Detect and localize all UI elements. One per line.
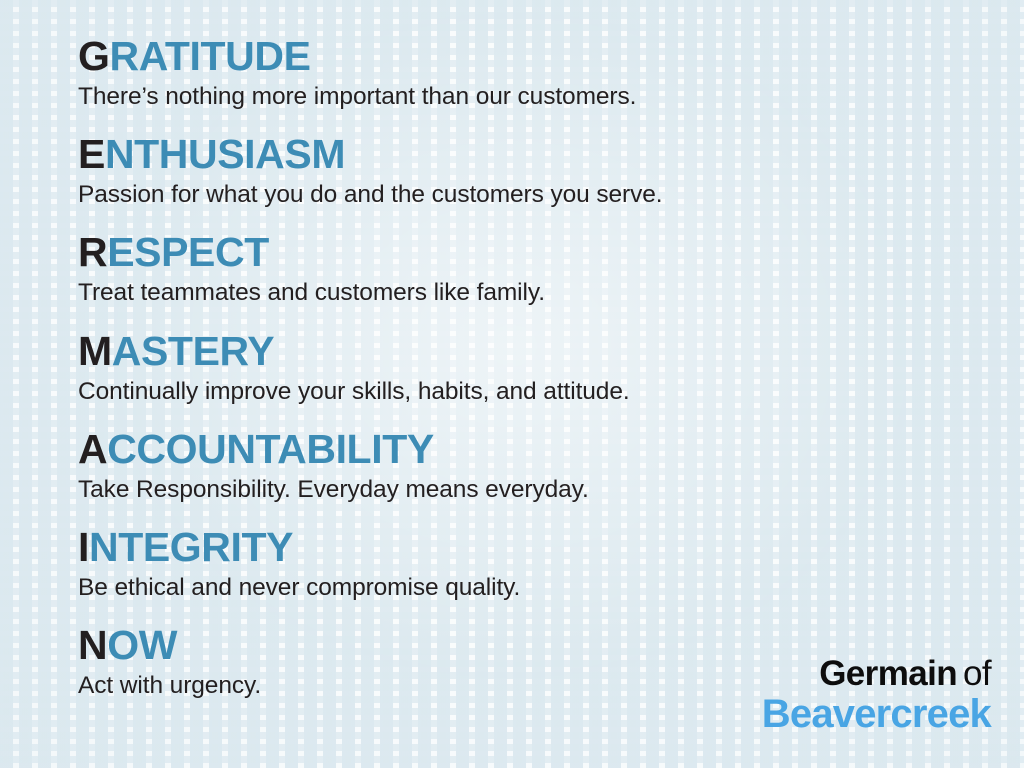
value-heading-respect: RESPECT [78, 232, 1000, 273]
value-initial-letter: G [78, 33, 110, 79]
values-poster: GRATITUDE There’s nothing more important… [0, 0, 1024, 768]
value-block-respect: RESPECT Treat teammates and customers li… [78, 232, 1000, 307]
value-heading-remainder: ASTERY [112, 328, 274, 374]
value-heading-remainder: OW [107, 622, 177, 668]
value-block-enthusiasm: ENTHUSIASM Passion for what you do and t… [78, 134, 1000, 209]
value-heading-remainder: CCOUNTABILITY [107, 426, 434, 472]
value-block-accountability: ACCOUNTABILITY Take Responsibility. Ever… [78, 429, 1000, 504]
value-block-gratitude: GRATITUDE There’s nothing more important… [78, 36, 1000, 111]
value-initial-letter: I [78, 524, 89, 570]
value-description-mastery: Continually improve your skills, habits,… [78, 378, 1000, 406]
value-initial-letter: M [78, 328, 112, 374]
value-heading-remainder: NTEGRITY [89, 524, 293, 570]
value-description-integrity: Be ethical and never compromise quality. [78, 574, 1000, 602]
value-heading-accountability: ACCOUNTABILITY [78, 429, 1000, 470]
value-block-mastery: MASTERY Continually improve your skills,… [78, 331, 1000, 406]
core-values-list: GRATITUDE There’s nothing more important… [78, 36, 1000, 723]
brand-logo: Germainof Beavercreek [762, 656, 991, 734]
brand-name: Germain [819, 654, 957, 693]
value-heading-remainder: RATITUDE [110, 33, 311, 79]
value-heading-enthusiasm: ENTHUSIASM [78, 134, 1000, 175]
value-initial-letter: A [78, 426, 107, 472]
value-block-integrity: INTEGRITY Be ethical and never compromis… [78, 527, 1000, 602]
value-initial-letter: N [78, 622, 107, 668]
value-heading-mastery: MASTERY [78, 331, 1000, 372]
value-initial-letter: E [78, 131, 105, 177]
value-description-respect: Treat teammates and customers like famil… [78, 279, 1000, 307]
value-heading-integrity: INTEGRITY [78, 527, 1000, 568]
value-description-accountability: Take Responsibility. Everyday means ever… [78, 476, 1000, 504]
brand-location: Beavercreek [762, 694, 991, 734]
value-heading-gratitude: GRATITUDE [78, 36, 1000, 77]
value-heading-remainder: NTHUSIASM [105, 131, 345, 177]
value-heading-remainder: ESPECT [107, 229, 269, 275]
value-description-gratitude: There’s nothing more important than our … [78, 83, 1000, 111]
value-initial-letter: R [78, 229, 107, 275]
value-description-enthusiasm: Passion for what you do and the customer… [78, 181, 1000, 209]
brand-logo-line-top: Germainof [762, 656, 991, 691]
brand-connector: of [963, 654, 991, 693]
